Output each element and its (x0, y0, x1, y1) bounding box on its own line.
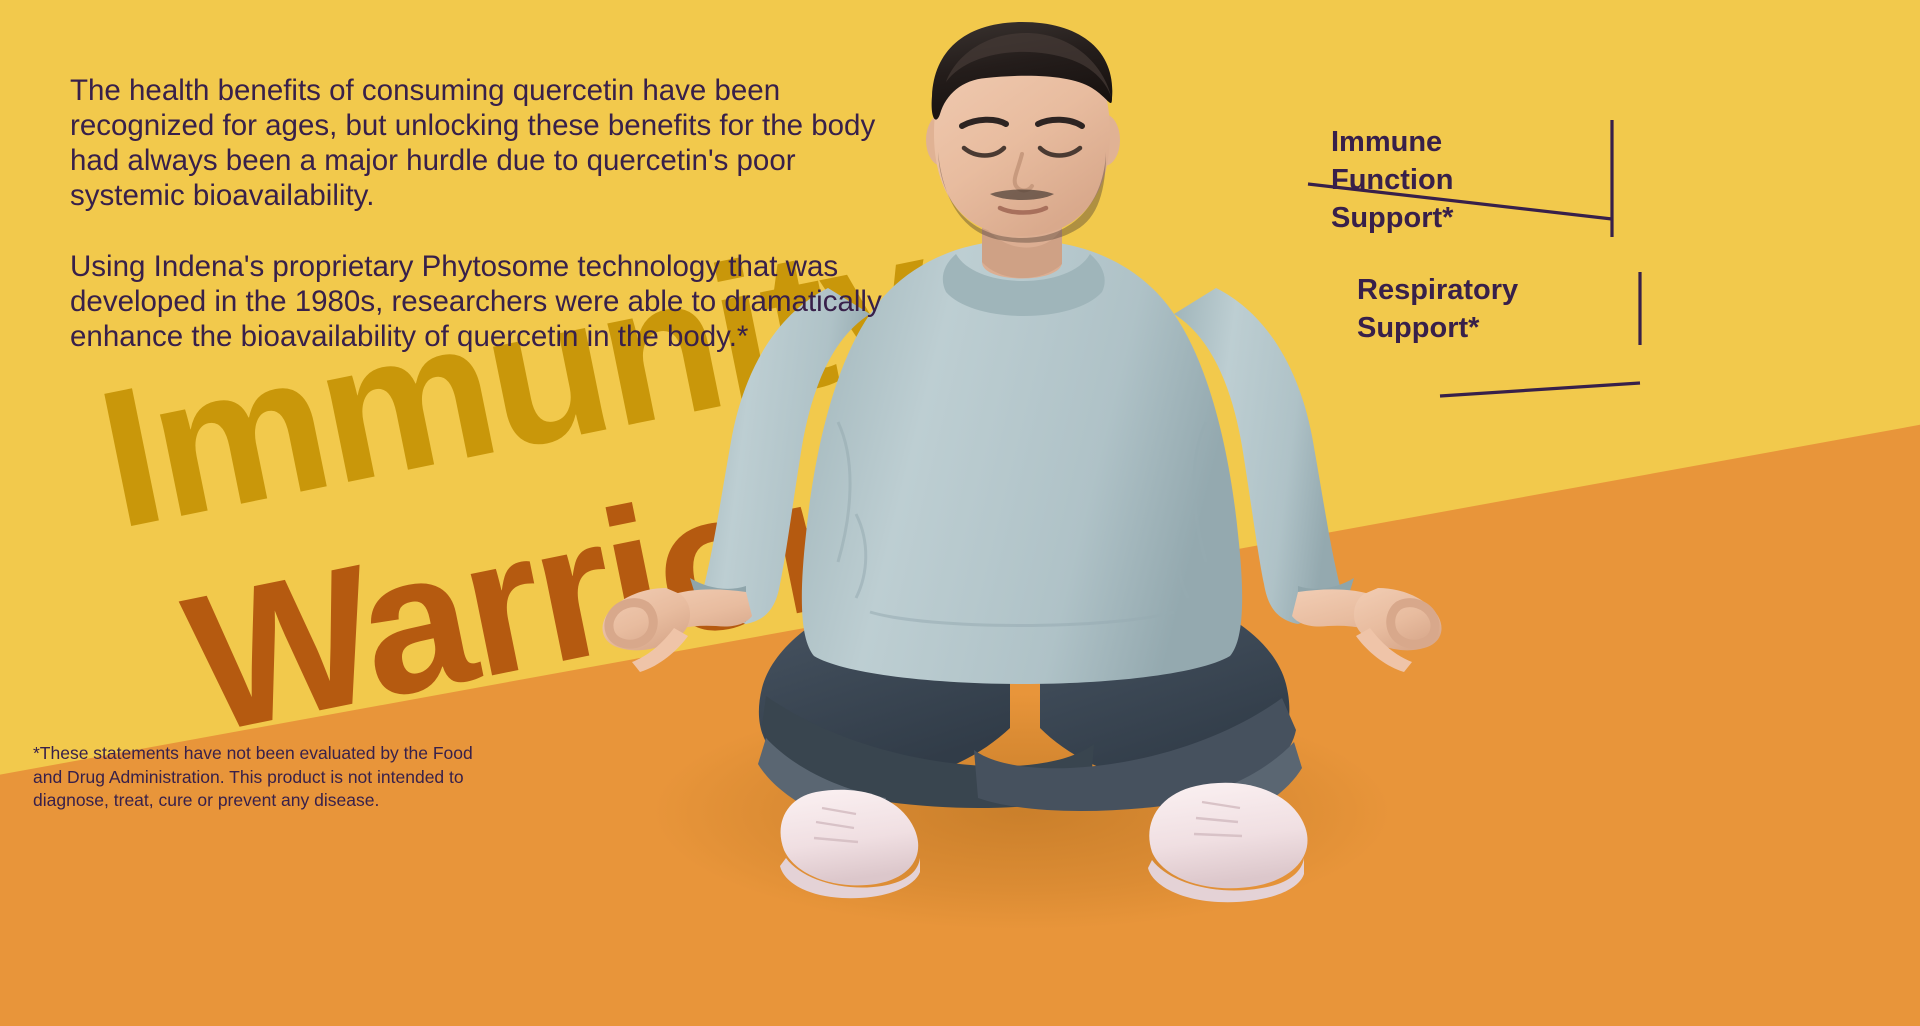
fda-disclaimer-text: *These statements have not been evaluate… (33, 742, 503, 813)
body-paragraph-1: The health benefits of consuming quercet… (70, 73, 900, 213)
body-paragraph-2: Using Indena's proprietary Phytosome tec… (70, 249, 900, 354)
head (926, 22, 1120, 243)
paragraph-1-text: The health benefits of consuming quercet… (70, 73, 900, 213)
promotional-banner: Immunity Warrior (0, 0, 1920, 1026)
hand-left (602, 588, 690, 672)
paragraph-2-text: Using Indena's proprietary Phytosome tec… (70, 249, 900, 354)
shoe-right (1148, 783, 1307, 902)
callout-label-respiratory-support: Respiratory Support* (1357, 272, 1518, 348)
hand-right (1354, 588, 1442, 672)
callout-label-immune-function-support: Immune Function Support* (1331, 124, 1453, 238)
